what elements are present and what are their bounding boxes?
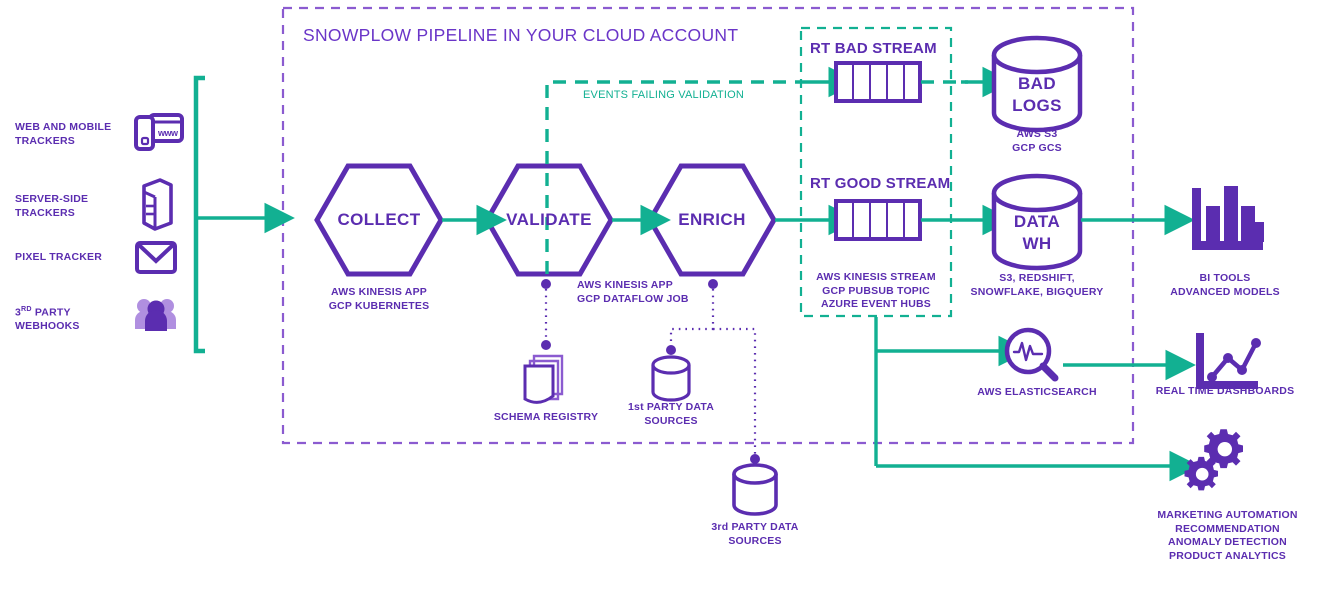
output-label-real-time-dashboards: REAL TIME DASHBOARDS <box>1140 385 1310 399</box>
rt-good-stream-queue <box>836 201 920 239</box>
output-label-bi-tools: BI TOOLS ADVANCED MODELS <box>1150 272 1300 299</box>
rt-stream-caption: AWS KINESIS STREAM GCP PUBSUB TOPIC AZUR… <box>806 271 946 312</box>
third-party-database-icon <box>734 465 776 514</box>
diagram-canvas: SNOWPLOW PIPELINE IN YOUR CLOUD ACCOUNT … <box>0 0 1317 592</box>
dot-third-party-top <box>750 454 760 464</box>
rt-bad-stream-queue <box>836 63 920 101</box>
output-label-marketing-automation: MARKETING AUTOMATION RECOMMENDATION ANOM… <box>1140 509 1315 563</box>
third-party-data-label: 3rd PARTY DATA SOURCES <box>696 521 814 548</box>
schema-registry-label: SCHEMA REGISTRY <box>482 411 610 425</box>
source-label-web-mobile-trackers: WEB AND MOBILE TRACKERS <box>15 121 135 148</box>
data-wh-label: DATA WH <box>994 211 1080 255</box>
caption-validate: AWS KINESIS APP GCP DATAFLOW JOB <box>577 279 727 306</box>
www-badge: www <box>158 128 178 138</box>
events-failing-validation-label: EVENTS FAILING VALIDATION <box>583 89 744 101</box>
rt-good-stream-title: RT GOOD STREAM <box>810 175 950 192</box>
people-icon <box>135 299 176 331</box>
source-label-server-side-trackers: SERVER-SIDE TRACKERS <box>15 193 135 220</box>
bad-logs-label: BAD LOGS <box>994 73 1080 117</box>
dotted-enrich-to-third-party <box>713 329 755 454</box>
dot-first-party-top <box>666 345 676 355</box>
line-chart-icon <box>1196 333 1261 389</box>
hexagon-label-enrich: ENRICH <box>650 210 774 230</box>
documents-icon-front <box>525 366 553 402</box>
source-label-third-party-webhooks: 3RD PARTYWEBHOOKS <box>15 303 135 334</box>
bar-chart-icon <box>1192 186 1264 250</box>
rt-bad-stream-title: RT BAD STREAM <box>810 40 937 57</box>
elasticsearch-label: AWS ELASTICSEARCH <box>962 386 1112 400</box>
dot-validate-bottom <box>541 279 551 289</box>
server-icon <box>144 180 171 229</box>
data-wh-caption: S3, REDSHIFT, SNOWFLAKE, BIGQUERY <box>958 272 1116 299</box>
first-party-database-icon <box>653 357 689 400</box>
sources-bracket <box>196 78 205 351</box>
dot-schema-registry-top <box>541 340 551 350</box>
hexagon-label-validate: VALIDATE <box>487 210 611 230</box>
first-party-data-label: 1st PARTY DATA SOURCES <box>612 401 730 428</box>
hexagon-label-collect: COLLECT <box>317 210 441 230</box>
events-failing-validation-path <box>547 82 806 274</box>
caption-collect: AWS KINESIS APP GCP KUBERNETES <box>312 286 446 313</box>
bad-logs-caption: AWS S3 GCP GCS <box>970 128 1104 155</box>
magnifier-pulse-icon <box>1007 330 1055 378</box>
documents-icon <box>530 356 562 399</box>
source-label-pixel-tracker: PIXEL TRACKER <box>15 251 145 265</box>
gears-icon <box>1185 429 1243 490</box>
page-title: SNOWPLOW PIPELINE IN YOUR CLOUD ACCOUNT <box>303 25 738 46</box>
